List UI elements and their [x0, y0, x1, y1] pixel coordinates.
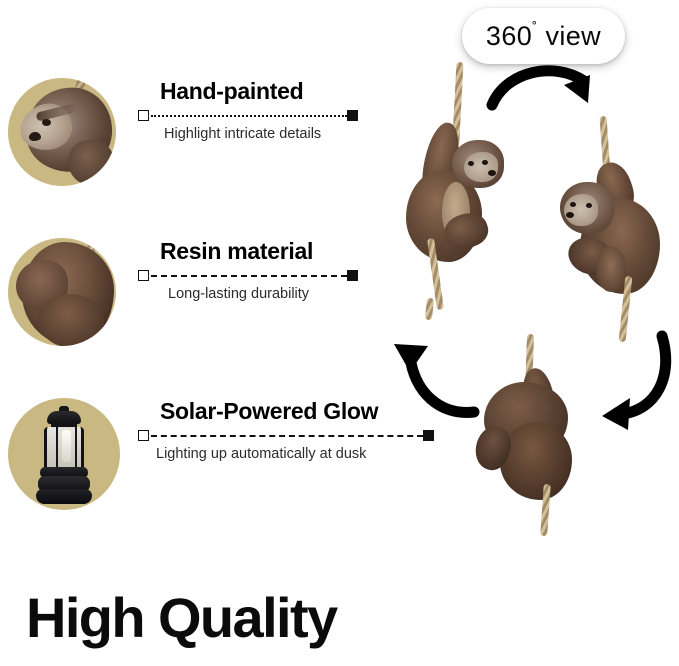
feature-title: Solar-Powered Glow [160, 398, 378, 425]
connector-filled-square-icon [347, 270, 358, 281]
degree-icon: ˚ [532, 20, 537, 37]
arrow-bottom-left-icon [388, 330, 484, 422]
feature-connector [138, 268, 313, 284]
feature-text-block: Resin material Long-lasting durability [138, 238, 313, 302]
lantern-bulb [62, 430, 71, 462]
thumbnail-sloth-body [8, 238, 116, 346]
sloth-eye [482, 160, 488, 165]
badge-360-view-label: 360˚ view [486, 21, 601, 52]
feature-subtitle: Highlight intricate details [164, 126, 321, 142]
lantern-base-foot [36, 489, 92, 504]
badge-number: 360 [486, 21, 532, 51]
product-infographic: 360˚ view Hand-painted Highlight intrica… [0, 0, 679, 666]
lantern-mullion [56, 427, 58, 469]
connector-open-square-icon [138, 270, 149, 281]
sloth-face [564, 194, 598, 226]
feature-title: Resin material [160, 238, 313, 265]
sloth-eye [586, 203, 592, 208]
lantern-mullion [75, 427, 77, 469]
sloth-hip [38, 294, 104, 346]
feature-connector [138, 108, 321, 124]
sloth-eye [570, 202, 576, 207]
lantern-icon [36, 406, 92, 504]
feature-text-block: Hand-painted Highlight intricate details [138, 78, 321, 142]
feature-connector [138, 428, 378, 444]
sloth-arm [68, 140, 114, 186]
sloth-back-lower [500, 422, 572, 500]
rope-tail [425, 298, 434, 321]
thumbnail-sloth-head [8, 78, 116, 186]
thumbnail-solar-lantern [8, 398, 120, 510]
sloth-nose [566, 212, 574, 218]
arrow-top-right-icon [484, 55, 602, 117]
feature-subtitle: Long-lasting durability [168, 286, 313, 302]
sloth-nose [29, 132, 41, 141]
rotation-scene [380, 52, 679, 562]
connector-open-square-icon [138, 110, 149, 121]
connector-dotted-line [151, 115, 347, 117]
connector-dashed-line [151, 275, 347, 277]
sloth-nose [488, 170, 496, 176]
connector-open-square-icon [138, 430, 149, 441]
lantern-glass [44, 427, 84, 469]
sloth-belly [596, 246, 626, 292]
connector-filled-square-icon [347, 110, 358, 121]
sloth-eye [468, 161, 474, 166]
headline-high-quality: High Quality [26, 590, 337, 646]
feature-subtitle: Lighting up automatically at dusk [156, 446, 378, 462]
arrow-bottom-right-icon [598, 328, 676, 444]
feature-text-block: Solar-Powered Glow Lighting up automatic… [138, 398, 378, 462]
badge-word: view [545, 21, 601, 51]
sloth-eye [42, 119, 51, 126]
sloth-back-view [476, 334, 606, 534]
feature-title: Hand-painted [160, 78, 321, 105]
sloth-face [464, 152, 498, 182]
